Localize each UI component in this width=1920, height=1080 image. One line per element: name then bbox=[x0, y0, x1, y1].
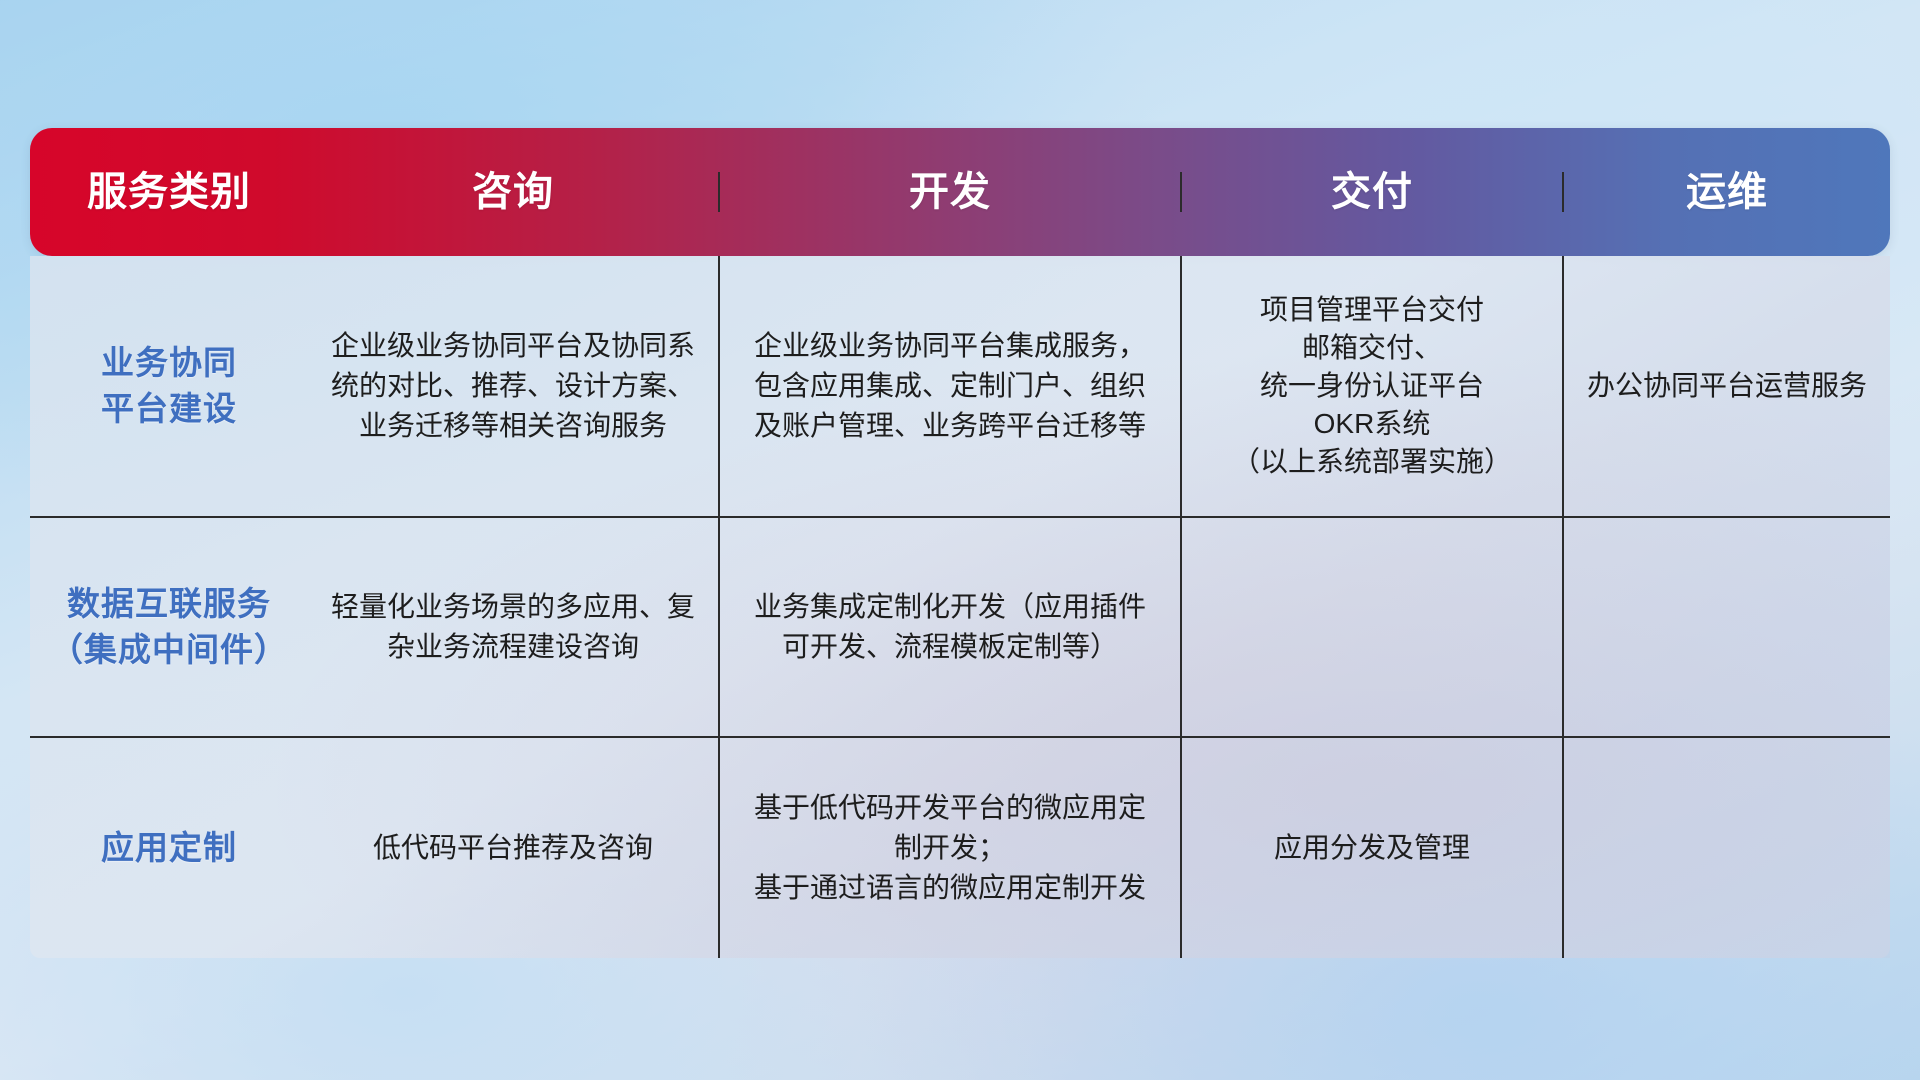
table-row: 应用定制 低代码平台推荐及咨询 基于低代码开发平台的微应用定 制开发； 基于通过… bbox=[30, 738, 1890, 958]
cell-text: 业务集成定制化开发（应用插件 可开发、流程模板定制等） bbox=[754, 587, 1146, 667]
cell-text: 企业级业务协同平台及协同系 统的对比、推荐、设计方案、 业务迁移等相关咨询服务 bbox=[331, 326, 695, 445]
row-operations-cell: 办公协同平台运营服务 bbox=[1564, 256, 1890, 516]
row-operations-cell bbox=[1564, 518, 1890, 736]
column-header-development: 开发 bbox=[720, 172, 1182, 212]
category-label: 数据互联服务 （集成中间件） bbox=[50, 581, 288, 672]
column-header-service-category: 服务类别 bbox=[30, 172, 308, 212]
table-row: 业务协同 平台建设 企业级业务协同平台及协同系 统的对比、推荐、设计方案、 业务… bbox=[30, 256, 1890, 518]
column-header-delivery: 交付 bbox=[1182, 172, 1564, 212]
column-header-operations: 运维 bbox=[1564, 172, 1890, 212]
row-development-cell: 业务集成定制化开发（应用插件 可开发、流程模板定制等） bbox=[720, 518, 1182, 736]
category-label: 业务协同 平台建设 bbox=[101, 340, 237, 431]
cell-text: 应用分发及管理 bbox=[1274, 828, 1470, 868]
cell-text: 基于低代码开发平台的微应用定 制开发； 基于通过语言的微应用定制开发 bbox=[754, 788, 1146, 907]
row-category-cell: 数据互联服务 （集成中间件） bbox=[30, 518, 308, 736]
cell-text: 项目管理平台交付 邮箱交付、 统一身份认证平台 OKR系统 （以上系统部署实施） bbox=[1232, 291, 1512, 481]
cell-text: 办公协同平台运营服务 bbox=[1587, 366, 1867, 406]
row-consulting-cell: 企业级业务协同平台及协同系 统的对比、推荐、设计方案、 业务迁移等相关咨询服务 bbox=[308, 256, 720, 516]
cell-text: 轻量化业务场景的多应用、复 杂业务流程建设咨询 bbox=[331, 587, 695, 667]
row-delivery-cell bbox=[1182, 518, 1564, 736]
row-category-cell: 业务协同 平台建设 bbox=[30, 256, 308, 516]
row-delivery-cell: 应用分发及管理 bbox=[1182, 738, 1564, 958]
table-row: 数据互联服务 （集成中间件） 轻量化业务场景的多应用、复 杂业务流程建设咨询 业… bbox=[30, 518, 1890, 738]
row-consulting-cell: 低代码平台推荐及咨询 bbox=[308, 738, 720, 958]
category-label: 应用定制 bbox=[101, 825, 237, 871]
row-development-cell: 基于低代码开发平台的微应用定 制开发； 基于通过语言的微应用定制开发 bbox=[720, 738, 1182, 958]
column-header-consulting: 咨询 bbox=[308, 172, 720, 212]
row-delivery-cell: 项目管理平台交付 邮箱交付、 统一身份认证平台 OKR系统 （以上系统部署实施） bbox=[1182, 256, 1564, 516]
service-matrix-table: 服务类别 咨询 开发 交付 运维 业务协同 平台建设 企业级业务协同平台及协同系… bbox=[30, 128, 1890, 958]
cell-text: 企业级业务协同平台集成服务， 包含应用集成、定制门户、组织 及账户管理、业务跨平… bbox=[754, 326, 1146, 445]
row-operations-cell bbox=[1564, 738, 1890, 958]
table-body: 业务协同 平台建设 企业级业务协同平台及协同系 统的对比、推荐、设计方案、 业务… bbox=[30, 256, 1890, 958]
table-header-row: 服务类别 咨询 开发 交付 运维 bbox=[30, 128, 1890, 256]
row-development-cell: 企业级业务协同平台集成服务， 包含应用集成、定制门户、组织 及账户管理、业务跨平… bbox=[720, 256, 1182, 516]
row-consulting-cell: 轻量化业务场景的多应用、复 杂业务流程建设咨询 bbox=[308, 518, 720, 736]
cell-text: 低代码平台推荐及咨询 bbox=[373, 828, 653, 868]
row-category-cell: 应用定制 bbox=[30, 738, 308, 958]
